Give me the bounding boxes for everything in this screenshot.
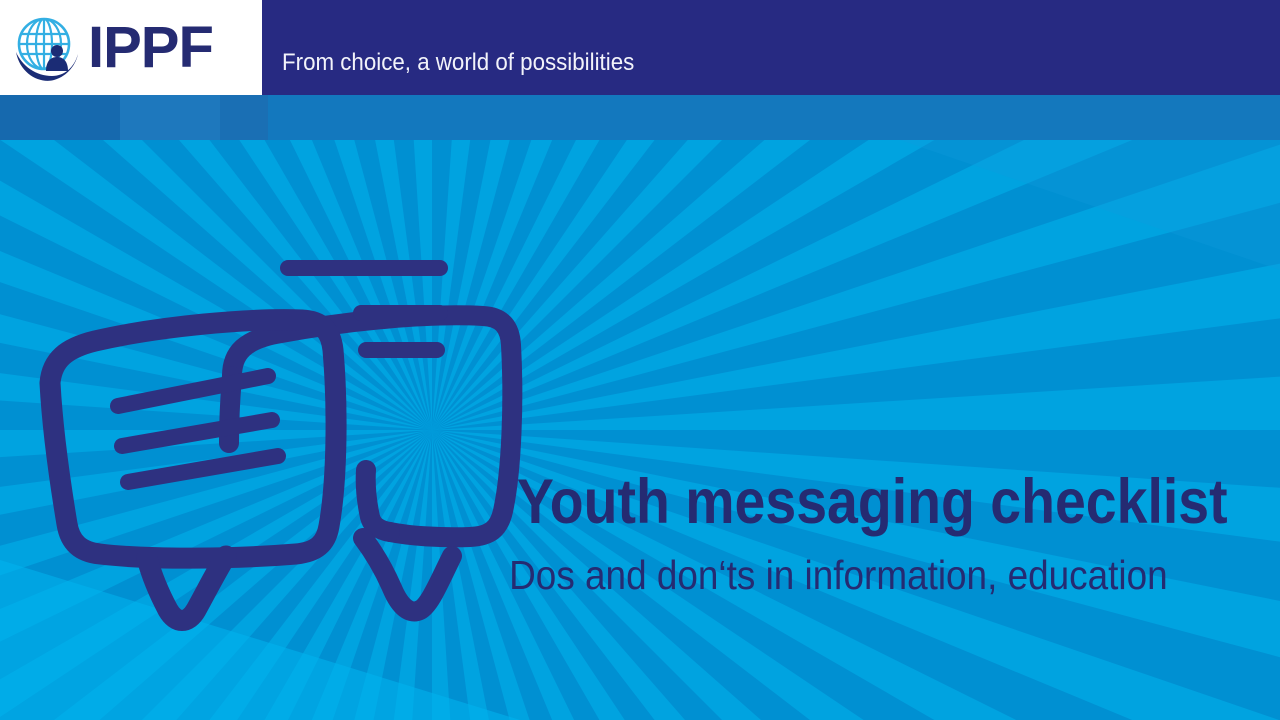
accent-band-segment [660,95,1280,140]
logo-container[interactable]: IPPF [0,0,262,95]
ippf-wordmark: IPPF [88,17,213,79]
accent-band-segment [220,95,268,140]
ippf-globe-logo-icon [10,14,84,84]
page-title: Youth messaging checklist [517,466,1228,538]
accent-band-segment [0,95,120,140]
accent-band [0,95,1280,140]
sunburst-rays [0,140,1280,720]
slide-canvas: Youth messaging checklist Dos and don‘ts… [0,0,1280,720]
page-subtitle: Dos and don‘ts in information, education [510,551,1168,599]
header-tagline: From choice, a world of possibilities [282,49,634,77]
accent-band-segment [120,95,220,140]
sunburst-background [0,140,1280,720]
